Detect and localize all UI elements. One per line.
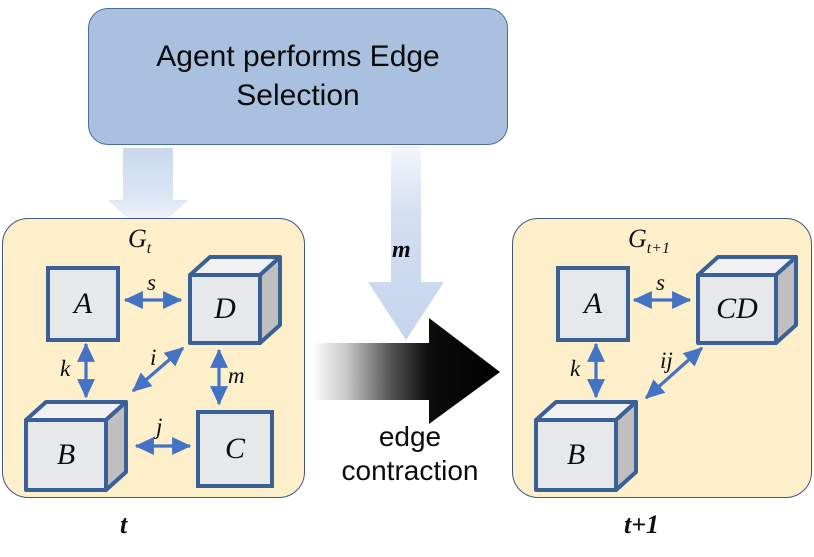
edge-contraction-label-line1: edge (315, 420, 505, 454)
edge-label-ij-right: ij (660, 348, 673, 374)
edge-arrow-ij-right (646, 348, 702, 398)
node-A-right[interactable]: A (556, 266, 630, 342)
node-CD-right[interactable]: CD (694, 253, 800, 348)
edge-label-s-right: s (656, 270, 665, 296)
node-A-right-face (556, 266, 630, 342)
action-arrow-label: m (392, 237, 411, 264)
edge-contraction-label: edge contraction (315, 420, 505, 488)
node-CD-right-cube (694, 253, 800, 348)
edge-contraction-label-line2: contraction (315, 454, 505, 488)
node-B-right-cube (532, 398, 642, 498)
step-label-right: t+1 (624, 510, 659, 540)
node-B-right[interactable]: B (532, 398, 642, 498)
edge-label-k-right: k (570, 356, 580, 382)
diagram-canvas: Agent performs Edge Selection Gt A (0, 0, 814, 557)
